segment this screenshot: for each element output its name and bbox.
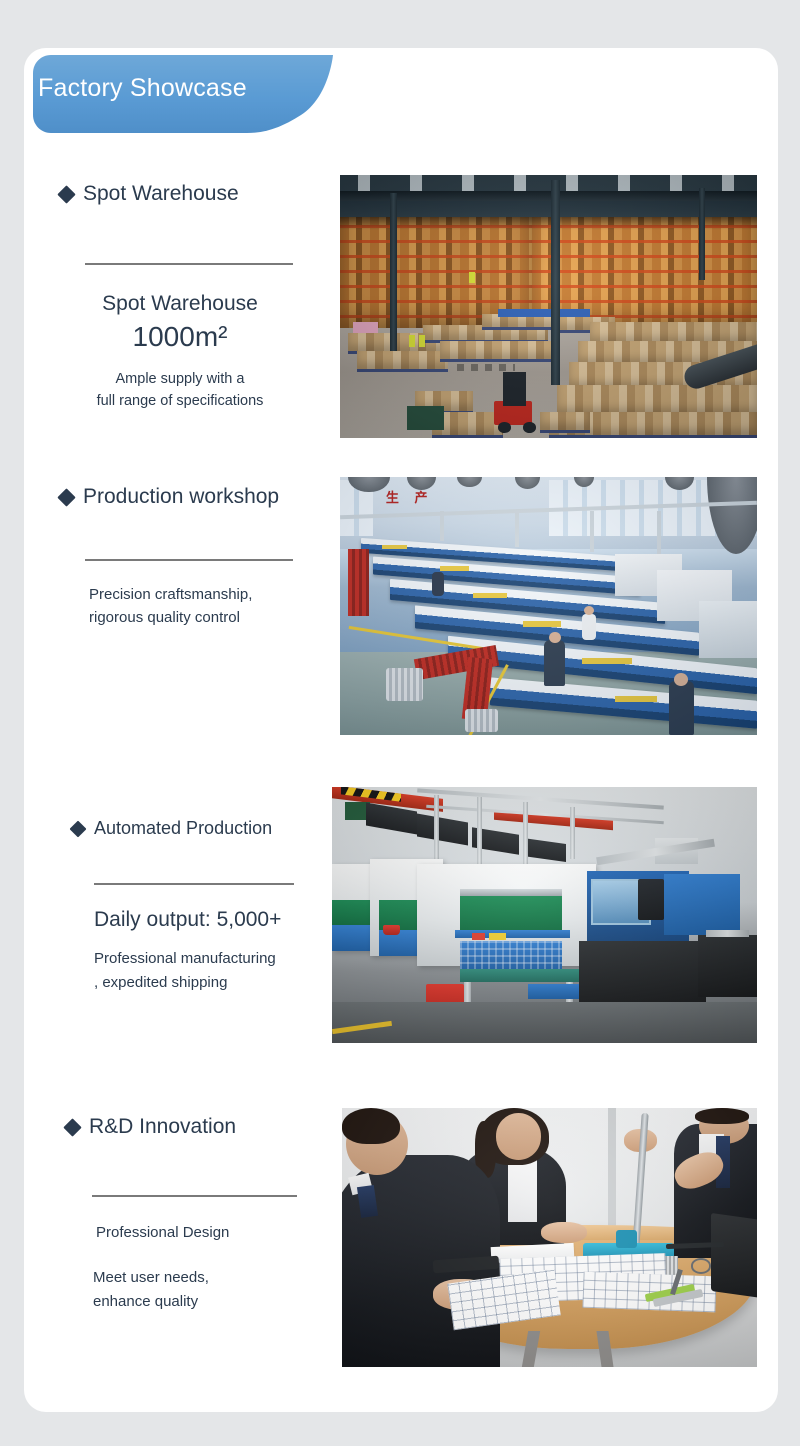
section-description-line1: Precision craftsmanship, — [89, 583, 329, 606]
section-header: R&D Innovation — [66, 1115, 326, 1139]
diamond-icon — [63, 1118, 81, 1136]
section-headline: Professional Design — [96, 1221, 346, 1244]
section-header: Automated Production — [72, 818, 332, 839]
section-description-line1: Professional manufacturing — [94, 947, 344, 970]
section-description-line1: Meet user needs, — [93, 1266, 343, 1289]
section-description-line2: rigorous quality control — [89, 606, 329, 629]
section-title: Spot Warehouse — [83, 182, 239, 206]
section-header: Production workshop — [60, 485, 310, 509]
diamond-icon — [57, 185, 75, 203]
factory-showcase-page: Factory Showcase Spot Warehouse Spot War… — [0, 0, 800, 1446]
section-description-line1: Ample supply with a — [60, 369, 300, 391]
section-production-workshop: Production workshop Precision craftsmans… — [60, 485, 310, 630]
section-rd-innovation: R&D Innovation Professional Design Meet … — [66, 1115, 326, 1313]
section-divider — [92, 1195, 297, 1197]
section-title: Automated Production — [94, 818, 272, 839]
automated-production-photo — [332, 787, 757, 1043]
section-divider — [94, 883, 294, 885]
rd-innovation-photo — [342, 1108, 757, 1367]
section-metric: 1000m² — [60, 321, 300, 353]
section-automated-production: Automated Production Daily output: 5,000… — [72, 818, 332, 994]
spot-warehouse-photo — [340, 175, 757, 438]
page-title: Factory Showcase — [38, 74, 247, 103]
section-description-line2: enhance quality — [93, 1290, 343, 1313]
production-workshop-photo: 生 产 — [340, 477, 757, 735]
section-divider — [85, 263, 293, 265]
section-headline: Daily output: 5,000+ — [94, 907, 344, 933]
section-spot-warehouse: Spot Warehouse Spot Warehouse 1000m² Amp… — [60, 182, 310, 413]
section-title: R&D Innovation — [89, 1115, 236, 1139]
section-divider — [85, 559, 293, 561]
section-description-line2: full range of specifications — [60, 391, 300, 413]
diamond-icon — [70, 820, 87, 837]
section-title: Production workshop — [83, 485, 279, 509]
section-description-line2: , expedited shipping — [94, 971, 344, 994]
diamond-icon — [57, 488, 75, 506]
section-headline: Spot Warehouse — [60, 291, 300, 317]
section-header: Spot Warehouse — [60, 182, 310, 206]
